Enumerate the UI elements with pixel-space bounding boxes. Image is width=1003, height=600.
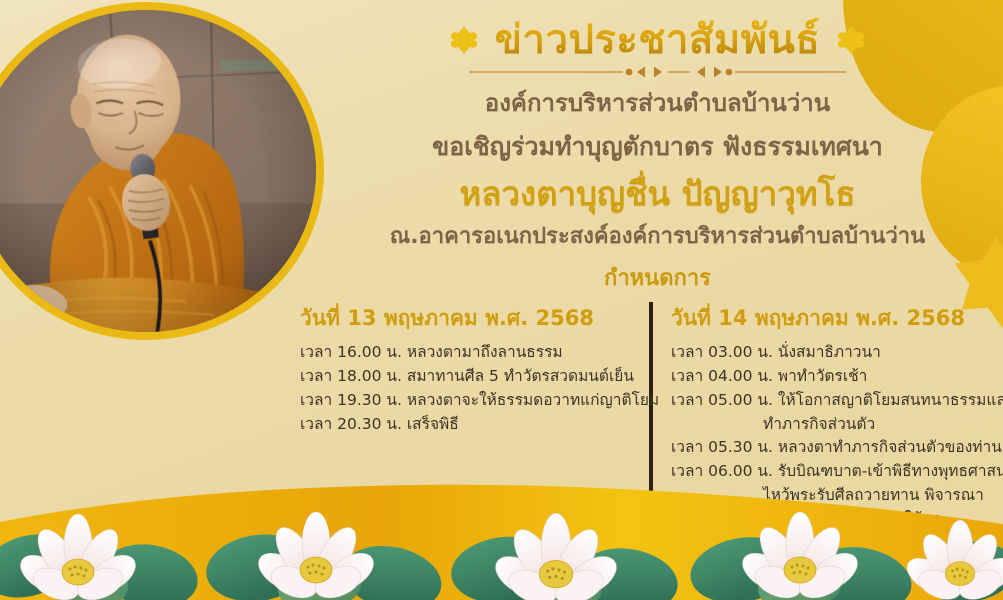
monk-portrait-image (0, 10, 316, 332)
lotus-flower (901, 520, 1003, 600)
organization-name: องค์การบริหารส่วนตำบลบ้านว่าน (330, 87, 985, 120)
lotus-flower (14, 514, 142, 600)
poster-canvas: ข่าวประชาสัมพันธ์ องค์การบริหารส่วนตำบลบ… (0, 0, 1003, 600)
monk-portrait-photo (0, 2, 324, 340)
poster-header: ข่าวประชาสัมพันธ์ องค์การบริหารส่วนตำบลบ… (330, 18, 985, 295)
schedule-day-1-list: เวลา 16.00 น. หลวงตามาถึงลานธรรมเวลา 18.… (300, 341, 629, 436)
page-title: ข่าวประชาสัมพันธ์ (495, 18, 821, 63)
invitation-text: ขอเชิญร่วมทำบุญตักบาตร ฟังธรรมเทศนา (330, 130, 985, 165)
agenda-label: กำหนดการ (330, 260, 985, 295)
ornamental-divider (465, 65, 850, 79)
quatrefoil-flower-icon-right (836, 25, 866, 55)
agenda-item: เวลา 06.00 น. รับบิณฑบาต-เข้าพิธีทางพุทธ… (671, 460, 990, 484)
agenda-item: เวลา 19.30 น. หลวงตาจะให้ธรรมดอวาทแก่ญาต… (300, 389, 629, 413)
schedule-day-2-list: เวลา 03.00 น. นั่งสมาธิภาวนาเวลา 04.00 น… (671, 341, 990, 532)
agenda-item: เวลา 20.30 น. เสร็จพิธี (300, 413, 629, 437)
title-row: ข่าวประชาสัมพันธ์ (330, 18, 985, 63)
agenda-item: เวลา 16.00 น. หลวงตามาถึงลานธรรม (300, 341, 629, 365)
schedule-day-1: วันที่ 13 พฤษภาคม พ.ศ. 2568 เวลา 16.00 น… (300, 302, 645, 436)
venue-text: ณ.อาคารอเนกประสงค์องค์การบริหารส่วนตำบลบ… (330, 223, 985, 252)
schedule-section: วันที่ 13 พฤษภาคม พ.ศ. 2568 เวลา 16.00 น… (300, 302, 990, 532)
agenda-item: เวลา 18.00 น. สมาทานศีล 5 ทำวัตรสวดมนต์เ… (300, 365, 629, 389)
agenda-item: เวลา 05.00 น. ให้โอกาสญาติโยมสนทนาธรรมแล… (671, 389, 990, 413)
monk-name: หลวงตาบุญชื่น ปัญญาวุทโธ (330, 174, 985, 214)
quatrefoil-flower-icon-left (449, 25, 479, 55)
agenda-item: เวลา 04.00 น. พาทำวัตรเช้า (671, 365, 990, 389)
agenda-item: เวลา 03.00 น. นั่งสมาธิภาวนา (671, 341, 990, 365)
agenda-item-continuation: อาหาร อนุโมทนาบุญให้พร (671, 508, 990, 532)
agenda-item-continuation: ทำภารกิจส่วนตัว (671, 413, 990, 437)
schedule-day-2: วันที่ 14 พฤษภาคม พ.ศ. 2568 เวลา 03.00 น… (645, 302, 990, 532)
agenda-item: เวลา 05.30 น. หลวงตาทำภารกิจส่วนตัวของท่… (671, 436, 990, 460)
agenda-item-continuation: ไหว้พระรับศีลถวายทาน พิจารณา (671, 484, 990, 508)
schedule-day-2-heading: วันที่ 14 พฤษภาคม พ.ศ. 2568 (671, 302, 990, 335)
schedule-day-1-heading: วันที่ 13 พฤษภาคม พ.ศ. 2568 (300, 302, 629, 335)
